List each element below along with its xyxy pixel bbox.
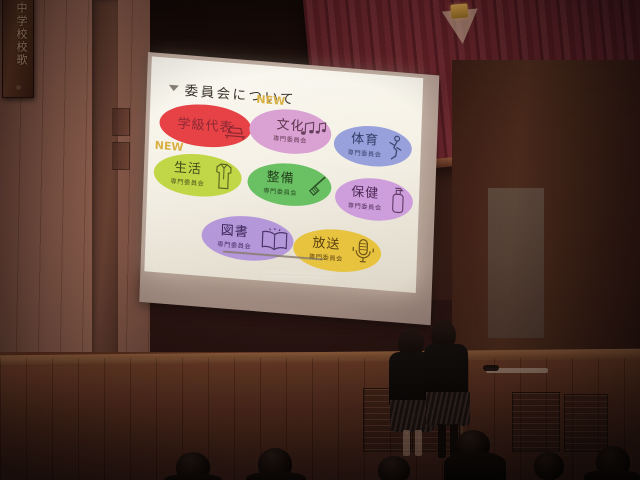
audience-shoulders: [164, 474, 222, 480]
committee-bubble-physical-education: 体育 専門委員会: [333, 123, 412, 169]
committee-bubble-health: 保健 専門委員会: [334, 175, 413, 223]
new-tag-culture: NEW: [256, 93, 285, 108]
audience-shoulders: [246, 472, 306, 480]
committee-bubble-group: 学級代表 NEW 文化 専門委員会: [144, 96, 422, 293]
bubble-label-group: 図書 専門委員会: [217, 224, 252, 251]
shirt-icon: [213, 162, 234, 192]
student-skirt: [426, 392, 470, 426]
student-leg: [438, 424, 446, 458]
stage-storage-door[interactable]: [512, 392, 560, 452]
committee-name: 保健: [351, 185, 379, 200]
wall-small-panel: [112, 108, 130, 136]
plaque-peg: [16, 85, 21, 90]
right-side-wall: [452, 60, 640, 360]
microphone-icon: [351, 236, 376, 268]
emblem-badge-icon: [450, 3, 468, 18]
student-leg: [415, 430, 422, 456]
audience-shoulders: [584, 470, 640, 480]
committee-subtitle: 専門委員会: [348, 148, 382, 160]
committee-name: 放送: [312, 236, 340, 251]
bubble-label-group: 整備 専門委員会: [263, 170, 298, 197]
bubble-label-group: 体育 専門委員会: [348, 132, 383, 159]
music-notes-icon: [299, 118, 330, 140]
audience-shoulders: [444, 452, 506, 480]
committee-bubble-daily-life: 生活 専門委員会: [153, 151, 242, 200]
new-tag-daily-life: NEW: [155, 139, 184, 154]
school-song-plaque: 中学校校歌: [2, 0, 34, 98]
sanitizer-bottle-icon: [388, 185, 407, 216]
committee-subtitle: 専門委員会: [170, 176, 204, 188]
gold-emblem-ornament: [441, 3, 480, 46]
audience-head: [534, 452, 564, 480]
plaque-text: 中学校校歌: [9, 2, 29, 67]
committee-subtitle: 専門委員会: [348, 201, 382, 213]
committee-subtitle: 専門委員会: [217, 239, 251, 251]
bubble-label-group: 生活 専門委員会: [170, 161, 205, 188]
bubble-label-group: 放送 専門委員会: [309, 236, 344, 263]
committee-name: 整備: [266, 171, 294, 186]
committee-bubble-maintenance: 整備 専門委員会: [247, 160, 332, 209]
committee-name: 体育: [351, 132, 379, 147]
committee-subtitle: 専門委員会: [263, 186, 297, 198]
photo-scene: 中学校校歌 委員会について 学級代表: [0, 0, 640, 480]
committee-name: 図書: [221, 224, 249, 239]
presentation-slide: 委員会について 学級代表 NEW: [144, 56, 423, 293]
projected-image-area: 委員会について 学級代表 NEW: [144, 56, 423, 293]
committee-name: 生活: [174, 161, 202, 176]
running-person-icon: [386, 134, 405, 161]
open-book-icon: [260, 225, 289, 253]
committee-subtitle: 専門委員会: [309, 252, 343, 264]
wall-small-panel: [112, 142, 130, 170]
student-leg: [403, 430, 410, 456]
desk-icon: [223, 122, 248, 142]
stage-object-dark: [483, 365, 499, 371]
projection-screen: 委員会について 学級代表 NEW: [139, 52, 439, 325]
committee-bubble-culture: 文化 専門委員会: [249, 106, 332, 157]
triangle-down-icon: [169, 85, 179, 92]
committee-bubble-broadcasting: 放送 専門委員会: [293, 226, 382, 275]
bubble-label-group: 保健 専門委員会: [348, 185, 383, 212]
broom-icon: [303, 174, 328, 200]
right-doorway: [488, 188, 544, 338]
audience-head: [378, 456, 410, 480]
stage-storage-door[interactable]: [564, 394, 608, 452]
